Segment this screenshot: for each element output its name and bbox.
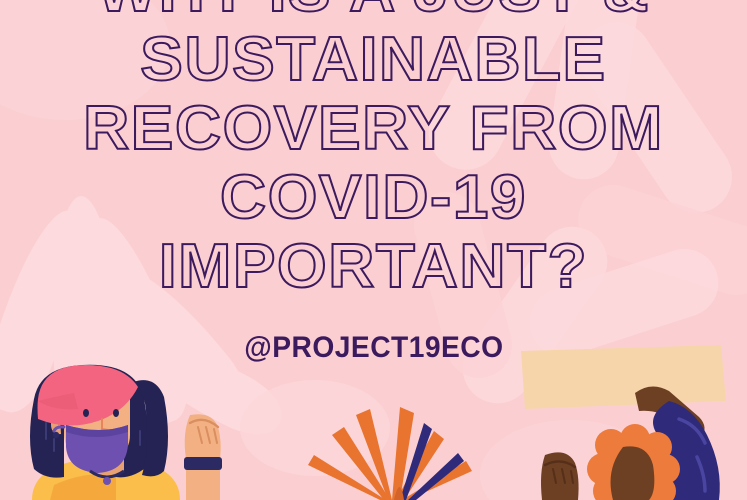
illustration-left-protester [0,365,264,500]
headline-line-1: WHY IS A JUST & [0,0,747,25]
poster-canvas: WHY IS A JUST & SUSTAINABLE RECOVERY FRO… [0,0,747,500]
masked-woman-figure [0,365,264,500]
headline-line-2: SUSTAINABLE [0,25,747,94]
headline-block: WHY IS A JUST & SUSTAINABLE RECOVERY FRO… [0,0,747,301]
raised-fist-left-figure [184,414,222,500]
illustration-right-protester [483,345,747,500]
headline-line-4: COVID-19 [0,163,747,232]
blank-placard [521,345,726,409]
spiky-plant-figure [296,405,486,500]
illustration-center-plant [296,405,486,500]
headline-line-3: RECOVERY FROM [0,94,747,163]
headline-line-5: IMPORTANT? [0,232,747,301]
raised-fist-right-figure [541,452,579,500]
placard-holder-figure [483,345,747,500]
social-handle-text: @PROJECT19ECO [244,331,503,365]
